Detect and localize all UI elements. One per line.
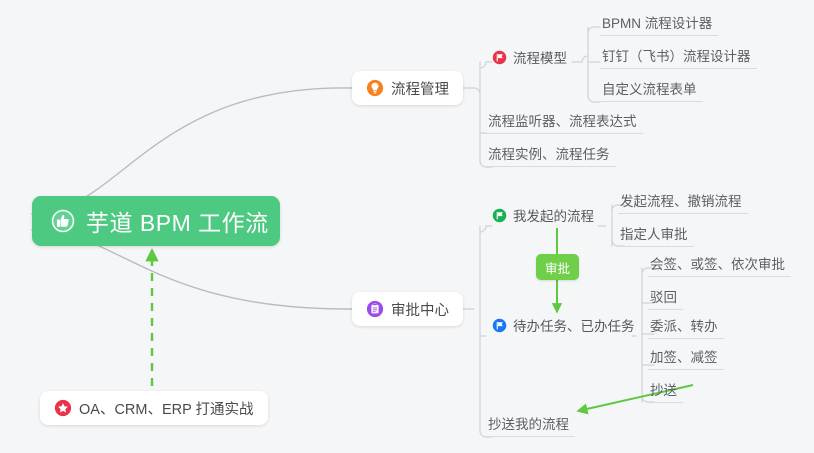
topic-node-my-started[interactable]: 我发起的流程 — [492, 202, 594, 228]
edge-to-bpmn — [588, 27, 600, 33]
leaf-label-dingtalk: 钉钉（飞书）流程设计器 — [602, 45, 751, 68]
clipboard-icon — [366, 300, 384, 318]
mindmap-canvas: 芋道 BPM 工作流 流程管理 流程模型 流程监听器、流程表达式 流程实例、流程… — [0, 0, 814, 453]
thumbs-up-icon — [50, 208, 76, 234]
annotation-approve-tag[interactable]: 审批 — [536, 254, 579, 280]
flag-icon — [492, 50, 507, 65]
flag-icon — [492, 208, 507, 223]
topic-label-todo-done: 待办任务、已办任务 — [513, 315, 635, 335]
leaf-label-delegate: 委派、转办 — [650, 315, 718, 338]
leaf-label-launch: 发起流程、撤销流程 — [620, 190, 742, 213]
leaf-label-cc-my: 抄送我的流程 — [488, 413, 569, 436]
annotation-bottom-note-label: OA、CRM、ERP 打通实战 — [79, 398, 254, 419]
annotation-bottom-note[interactable]: OA、CRM、ERP 打通实战 — [40, 391, 268, 425]
leaf-node-assignee[interactable]: 指定人审批 — [618, 220, 694, 247]
leaf-label-instance: 流程实例、流程任务 — [488, 143, 610, 166]
edge-flow-model-elbow — [582, 56, 588, 62]
leaf-node-reject[interactable]: 驳回 — [648, 283, 683, 310]
annotation-approve-tag-label: 审批 — [545, 258, 570, 277]
leaf-node-bpmn[interactable]: BPMN 流程设计器 — [600, 9, 718, 36]
topic-label-my-started: 我发起的流程 — [513, 205, 594, 225]
root-node[interactable]: 芋道 BPM 工作流 — [32, 196, 280, 246]
topic-node-flow-model[interactable]: 流程模型 — [492, 44, 567, 70]
leaf-node-instance[interactable]: 流程实例、流程任务 — [486, 140, 616, 167]
leaf-label-cc: 抄送 — [650, 379, 677, 402]
edge-to-customform — [588, 96, 600, 102]
leaf-node-addsign[interactable]: 加签、减签 — [648, 343, 724, 370]
leaf-node-custom-form[interactable]: 自定义流程表单 — [600, 75, 703, 102]
leaf-label-reject: 驳回 — [650, 286, 677, 309]
leaf-label-custom-form: 自定义流程表单 — [602, 78, 697, 101]
leaf-node-cc[interactable]: 抄送 — [648, 376, 683, 403]
lightbulb-icon — [366, 79, 384, 97]
leaf-node-listener[interactable]: 流程监听器、流程表达式 — [486, 107, 643, 134]
topic-node-todo-done[interactable]: 待办任务、已办任务 — [492, 312, 635, 338]
edge-to-flow-model — [480, 62, 492, 68]
flag-icon — [492, 318, 507, 333]
leaf-node-delegate[interactable]: 委派、转办 — [648, 312, 724, 339]
leaf-node-dingtalk[interactable]: 钉钉（飞书）流程设计器 — [600, 42, 757, 69]
leaf-label-countersign: 会签、或签、依次审批 — [650, 253, 785, 276]
edge-flow-management-elbow-top — [468, 88, 480, 94]
topic-label-flow-model: 流程模型 — [513, 47, 567, 67]
branch-label-flow-management: 流程管理 — [391, 78, 449, 99]
leaf-label-bpmn: BPMN 流程设计器 — [602, 12, 712, 35]
branch-label-approval-center: 审批中心 — [391, 299, 449, 320]
edge-to-my-started — [480, 226, 492, 232]
leaf-label-assignee: 指定人审批 — [620, 223, 688, 246]
leaf-label-listener: 流程监听器、流程表达式 — [488, 110, 637, 133]
leaf-node-countersign[interactable]: 会签、或签、依次审批 — [648, 250, 791, 277]
star-icon — [54, 399, 72, 417]
leaf-label-addsign: 加签、减签 — [650, 346, 718, 369]
leaf-node-launch[interactable]: 发起流程、撤销流程 — [618, 187, 748, 214]
leaf-node-cc-my[interactable]: 抄送我的流程 — [486, 410, 575, 437]
root-label: 芋道 BPM 工作流 — [86, 204, 269, 238]
branch-node-flow-management[interactable]: 流程管理 — [352, 71, 463, 105]
branch-node-approval-center[interactable]: 审批中心 — [352, 292, 463, 326]
